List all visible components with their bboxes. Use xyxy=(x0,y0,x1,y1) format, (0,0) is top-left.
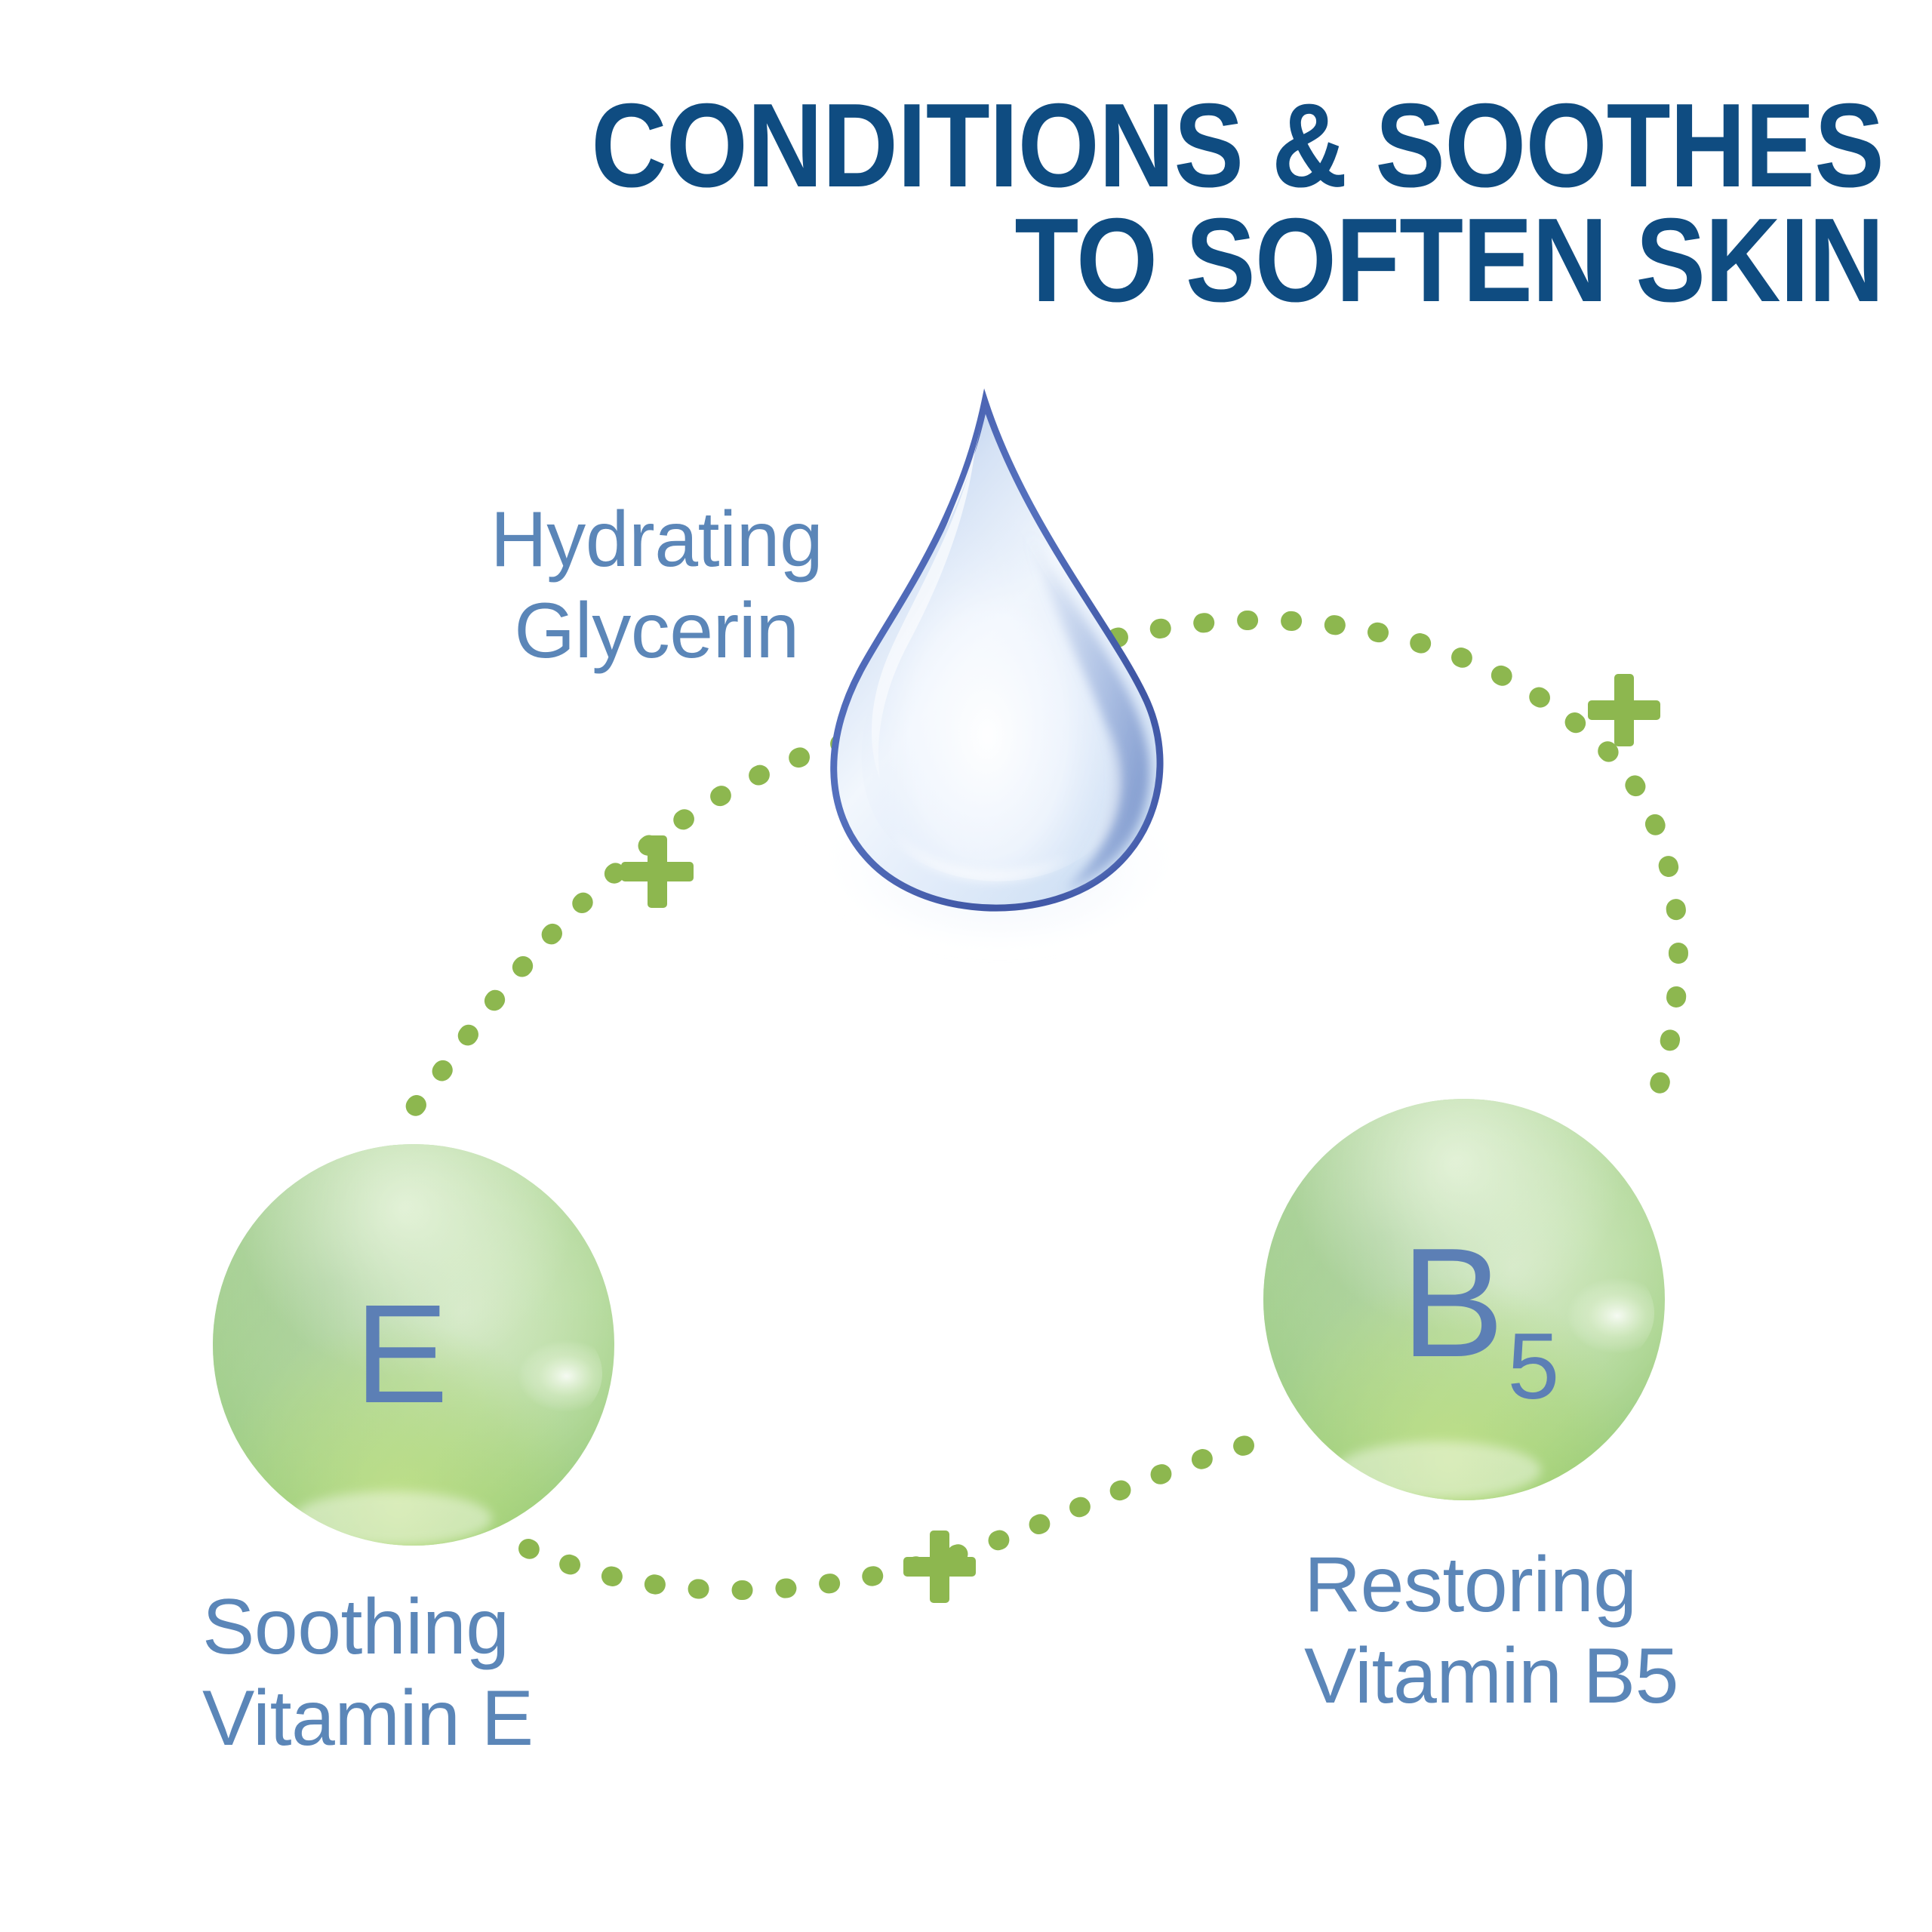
caption-vitamin-b5-line-1: Restoring xyxy=(1304,1540,1932,1631)
green-sphere-vitamin-b5 xyxy=(1263,1099,1665,1500)
plus-icon-left xyxy=(621,835,694,908)
caption-vitamin-e-line-1: Soothing xyxy=(202,1582,776,1673)
connector-glycerin-to-vitamin-e xyxy=(401,743,841,1127)
green-sphere-vitamin-e xyxy=(213,1144,614,1546)
plus-icon-right xyxy=(1588,674,1660,746)
caption-glycerin: Hydrating Glycerin xyxy=(483,494,830,676)
caption-vitamin-e-line-2: Vitamin E xyxy=(202,1673,776,1764)
caption-vitamin-b5-line-2: Vitamin B5 xyxy=(1304,1631,1932,1722)
caption-glycerin-line-2: Glycerin xyxy=(483,586,830,677)
connector-glycerin-to-vitamin-b5 xyxy=(1117,620,1678,1117)
connector-vitamin-e-to-vitamin-b5 xyxy=(528,1438,1275,1603)
water-droplet-icon xyxy=(826,401,1174,940)
caption-vitamin-b5: Restoring Vitamin B5 xyxy=(1304,1540,1932,1721)
caption-vitamin-e: Soothing Vitamin E xyxy=(202,1582,776,1764)
caption-glycerin-line-1: Hydrating xyxy=(483,494,830,586)
plus-icon-bottom xyxy=(903,1531,976,1603)
infographic-canvas: CONDITIONS & SOOTHES TO SOFTEN SKIN xyxy=(0,0,1932,1932)
